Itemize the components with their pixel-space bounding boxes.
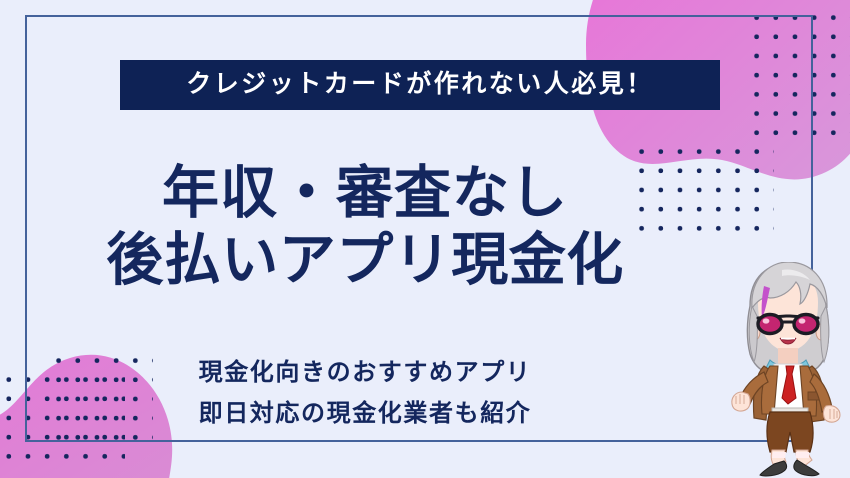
- eyecatch-banner: クレジットカードが作れない人必見！ 年収・審査なし 後払いアプリ現金化 現金化向…: [0, 0, 850, 478]
- page-subtitle-line-1: 現金化向きのおすすめアプリ: [0, 352, 730, 393]
- page-title-line-1: 年収・審査なし: [0, 160, 730, 227]
- page-subtitle: 現金化向きのおすすめアプリ 即日対応の現金化業者も紹介: [0, 352, 730, 435]
- page-title: 年収・審査なし 後払いアプリ現金化: [0, 160, 730, 295]
- headline-ribbon-text: クレジットカードが作れない人必見！: [186, 72, 654, 97]
- headline-ribbon: クレジットカードが作れない人必見！: [120, 60, 720, 110]
- page-subtitle-line-2: 即日対応の現金化業者も紹介: [0, 393, 730, 434]
- dot-grid-top-right: [747, 8, 850, 144]
- page-title-line-2: 後払いアプリ現金化: [0, 227, 730, 294]
- character-illustration: [730, 262, 848, 478]
